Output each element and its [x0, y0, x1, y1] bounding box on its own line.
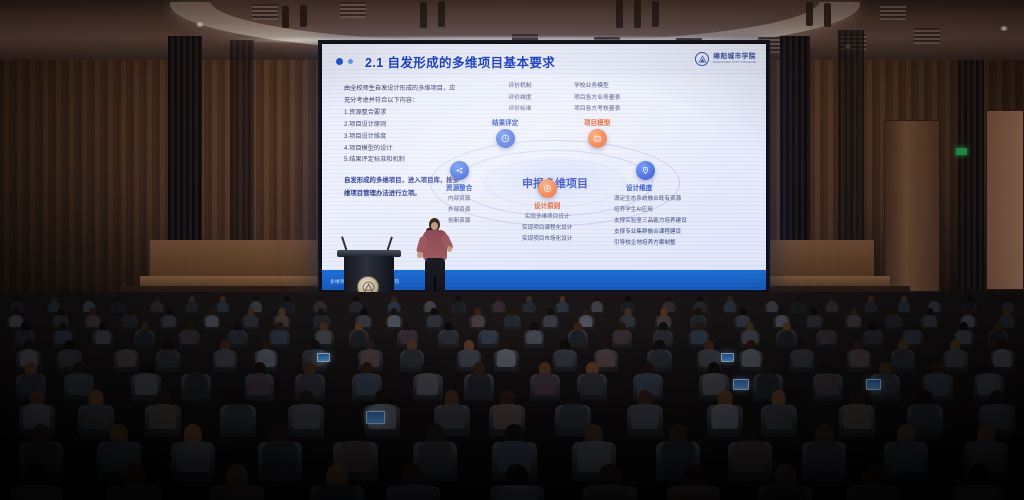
audience-member — [215, 464, 259, 500]
intro-item: 2.项目设计原则 — [344, 119, 460, 131]
audience-member — [112, 464, 156, 500]
auditorium-photo: 2.1 自发形成的多维项目基本要求 绵阳城市学院 MIANYANG CITY C… — [0, 0, 1024, 500]
audience-member — [215, 340, 235, 369]
audience-member — [505, 308, 519, 328]
node-line: 引导校企地培养方案制整 — [614, 238, 687, 249]
evaluation-item: 评价维度 — [484, 93, 556, 105]
audience-shoulders — [493, 301, 504, 311]
audience-member — [588, 464, 632, 500]
node-line: 满足生态系统融合既有资源 — [614, 194, 687, 205]
audience-shoulders — [216, 349, 235, 366]
audience-shoulders — [899, 301, 910, 311]
school-name-en: MIANYANG CITY COLLEGE — [713, 61, 756, 64]
audience-shoulders — [793, 349, 812, 366]
audience-shoulders — [526, 330, 542, 344]
acoustic-fin — [634, 0, 641, 28]
node-line: 实现项目课程化设计 — [522, 223, 572, 234]
diagram-node-resource-integration[interactable]: 资源整合 内部资源 外部资源 创新资源 — [446, 161, 472, 227]
audience-shoulders — [590, 485, 631, 500]
node-lines: 满足生态系统融合既有资源 培养学生AI应用 支撑实验室三品能力培养建设 支撑专业… — [614, 194, 687, 249]
slide-intro-text: 由全校师生自发设计形成的多维项目，应充分考虑并符合以下内容： 1.资源整合要求 … — [344, 83, 460, 166]
node-line: 外部资源 — [448, 205, 470, 216]
audience-shoulders — [793, 301, 804, 311]
model-item: 项目各方考核量表 — [574, 104, 666, 116]
audience-shoulders — [614, 330, 630, 344]
audience-shoulders — [393, 485, 434, 500]
audience-member — [205, 308, 219, 328]
presenter-hand-right — [447, 246, 452, 252]
audience-member — [480, 322, 497, 346]
diagram-node-project-model[interactable]: 项目模型 — [584, 117, 610, 148]
audience-area — [0, 292, 1024, 500]
model-item: 项目各方业务量表 — [574, 93, 666, 105]
ceiling-vent — [340, 2, 366, 18]
audience-shoulders — [843, 404, 871, 429]
audience-member — [792, 296, 804, 313]
audience-shoulders — [557, 301, 568, 311]
audience-shoulders — [506, 315, 519, 327]
audience-shoulders — [217, 485, 258, 500]
presenter-face — [431, 222, 438, 230]
audience-member — [453, 296, 465, 313]
side-door[interactable] — [986, 110, 1024, 290]
audience-member — [532, 362, 557, 397]
audience-phone-screen — [733, 379, 749, 390]
intro-item: 3.项目设计维度 — [344, 131, 460, 143]
audience-member — [724, 296, 736, 313]
diagram-node-design-dimension[interactable]: 设计维度 满足生态系统融合既有资源 培养学生AI应用 支撑实验室三品能力培养建设… — [614, 161, 687, 249]
audience-member — [158, 340, 178, 369]
ceiling-spotlight — [196, 22, 204, 27]
acoustic-fin — [282, 6, 289, 28]
model-column: 学校业务模型 项目各方业务量表 项目各方考核量表 — [574, 81, 666, 116]
audience-member — [630, 390, 660, 432]
evaluation-item: 评价标准 — [484, 104, 556, 116]
audience-phone-screen — [366, 411, 386, 424]
audience-shoulders — [467, 373, 490, 394]
node-title: 资源整合 — [446, 182, 472, 192]
audience-shoulders — [807, 441, 841, 472]
bullet-dot-small-icon — [348, 59, 353, 64]
ceiling-vent — [914, 28, 940, 44]
slide-title-row: 2.1 自发形成的多维项目基本要求 — [336, 52, 555, 71]
audience-member — [886, 308, 900, 328]
audience-shoulders — [764, 485, 805, 500]
diagram-node-result-evaluation[interactable]: 结果评定 — [492, 117, 518, 148]
audience-member — [806, 424, 842, 476]
audience-shoulders — [923, 315, 936, 327]
ceiling-vent — [880, 4, 906, 20]
audience-member — [956, 464, 1000, 500]
audience-shoulders — [416, 373, 439, 394]
node-lines: 实现多维项目设计 实现项目课程化设计 实现项目市场化设计 — [522, 212, 572, 245]
audience-member — [184, 362, 209, 397]
audience-member — [94, 322, 111, 346]
audience-member — [391, 464, 435, 500]
audience-member — [495, 464, 539, 500]
audience-member — [555, 340, 575, 369]
acoustic-fin — [824, 3, 831, 27]
audience-member — [186, 296, 198, 313]
audience-member — [14, 464, 58, 500]
node-line: 培养学生AI应用 — [614, 205, 687, 216]
node-title: 设计维度 — [626, 182, 652, 192]
audience-shoulders — [428, 315, 441, 327]
audience-shoulders — [137, 330, 153, 344]
presenter-hand-left — [417, 252, 423, 258]
audience-member — [427, 308, 441, 328]
audience-shoulders — [523, 301, 534, 311]
audience-member — [315, 464, 359, 500]
audience-shoulders — [182, 330, 198, 344]
phone-display — [867, 380, 881, 389]
audience-shoulders — [958, 485, 999, 500]
location-pin-icon — [636, 161, 655, 180]
audience-member — [148, 390, 178, 432]
wall-drape — [958, 60, 984, 290]
audience-shoulders — [733, 441, 767, 472]
clock-icon — [496, 129, 515, 148]
audience-member — [526, 322, 543, 346]
audience-shoulders — [827, 301, 838, 311]
model-item: 学校业务模型 — [574, 81, 666, 93]
audience-member — [826, 296, 838, 313]
school-logo-text: 绵阳城市学院 MIANYANG CITY COLLEGE — [713, 54, 756, 65]
audience-shoulders — [186, 301, 197, 311]
audience-shoulders — [162, 315, 175, 327]
ceiling-spotlight — [1000, 26, 1008, 31]
intro-item: 1.资源整合要求 — [344, 107, 460, 119]
slide-note-text: 自发形成的多维项目，进入项目库，按多维项目管理办法进行立项。 — [344, 175, 460, 201]
acoustic-fin — [806, 2, 813, 26]
bullet-dot-large-icon — [336, 58, 343, 65]
audience-member — [792, 340, 812, 369]
audience-shoulders — [441, 330, 457, 344]
target-icon — [538, 179, 557, 198]
audience-member — [493, 296, 505, 313]
intro-paragraph: 由全校师生自发设计形成的多维项目，应充分考虑并符合以下内容： — [344, 83, 460, 107]
audience-shoulders — [725, 301, 736, 311]
acoustic-fin — [420, 2, 427, 28]
audience-member — [842, 390, 872, 432]
audience-shoulders — [592, 301, 603, 311]
school-logo: 绵阳城市学院 MIANYANG CITY COLLEGE — [695, 52, 756, 66]
audience-member — [923, 308, 937, 328]
audience-shoulders — [159, 349, 178, 366]
audience-member — [763, 464, 807, 500]
slide-title: 2.1 自发形成的多维项目基本要求 — [365, 52, 555, 71]
audience-phone-screen — [866, 379, 882, 390]
audience-shoulders — [673, 485, 714, 500]
audience-shoulders — [176, 441, 210, 472]
node-title: 设计原则 — [534, 200, 560, 210]
audience-member — [440, 322, 457, 346]
audience-shoulders — [16, 485, 57, 500]
audience-member — [181, 322, 198, 346]
audience-member — [816, 362, 841, 397]
audience-shoulders — [631, 404, 659, 429]
ceiling-vent — [252, 4, 278, 20]
evaluation-item: 评价机制 — [484, 81, 556, 93]
audience-shoulders — [481, 330, 497, 344]
acoustic-fin — [652, 1, 659, 27]
audience-member — [671, 464, 715, 500]
node-line: 实现项目市场化设计 — [522, 234, 572, 245]
audience-member — [865, 296, 877, 313]
building-icon — [588, 129, 607, 148]
audience-shoulders — [819, 330, 835, 344]
audience-member — [847, 308, 861, 328]
audience-member — [849, 340, 869, 369]
audience-shoulders — [765, 404, 793, 429]
node-title: 结果评定 — [492, 117, 518, 127]
node-line: 内部资源 — [448, 194, 470, 205]
audience-shoulders — [263, 441, 297, 472]
audience-member — [262, 424, 298, 476]
phone-display — [722, 354, 733, 361]
audience-shoulders — [123, 315, 136, 327]
audience-shoulders — [95, 330, 111, 344]
diagram-node-design-principle[interactable]: 设计原则 实现多维项目设计 实现项目课程化设计 实现项目市场化设计 — [522, 179, 572, 245]
audience-phone-screen — [721, 353, 734, 362]
phone-display — [734, 380, 748, 389]
audience-member — [223, 390, 253, 432]
node-line: 支撑实验室三品能力培养建设 — [614, 216, 687, 227]
audience-shoulders — [205, 315, 218, 327]
audience-shoulders — [317, 485, 358, 500]
university-crest-icon — [695, 52, 709, 66]
evaluation-column: 评价机制 评价维度 评价标准 — [484, 81, 556, 116]
share-icon — [450, 161, 469, 180]
acoustic-fin — [300, 5, 307, 27]
node-line: 支撑专业集群融合课程建设 — [614, 227, 687, 238]
audience-shoulders — [887, 315, 900, 327]
audience-shoulders — [544, 315, 557, 327]
audience-member — [851, 464, 895, 500]
audience-member — [175, 424, 211, 476]
side-door[interactable] — [884, 120, 940, 292]
audience-shoulders — [185, 373, 208, 394]
audience-shoulders — [217, 301, 228, 311]
audience-shoulders — [853, 485, 894, 500]
acoustic-fin — [438, 1, 445, 27]
audience-member — [496, 340, 516, 369]
audience-member — [523, 296, 535, 313]
audience-shoulders — [224, 404, 252, 429]
audience-shoulders — [555, 349, 574, 366]
audience-member — [543, 308, 557, 328]
audience-shoulders — [865, 301, 876, 311]
audience-member — [557, 296, 569, 313]
audience-phone-screen — [317, 353, 330, 362]
audience-shoulders — [453, 301, 464, 311]
audience-shoulders — [533, 373, 556, 394]
audience-shoulders — [816, 373, 839, 394]
intro-item: 4.项目模型的设计 — [344, 143, 460, 155]
audience-shoulders — [496, 485, 537, 500]
audience-member — [136, 322, 153, 346]
audience-member — [162, 308, 176, 328]
exit-sign-icon — [956, 148, 967, 155]
audience-shoulders — [497, 349, 516, 366]
acoustic-fin — [616, 0, 623, 28]
intro-item: 5.结果评定标准和机制 — [344, 154, 460, 166]
audience-member — [467, 362, 492, 397]
phone-display — [367, 412, 385, 423]
audience-member — [122, 308, 136, 328]
audience-shoulders — [850, 349, 869, 366]
phone-display — [318, 354, 329, 361]
node-line: 实现多维项目设计 — [522, 212, 572, 223]
audience-shoulders — [149, 404, 177, 429]
audience-shoulders — [113, 485, 154, 500]
audience-member — [818, 322, 835, 346]
audience-shoulders — [847, 315, 860, 327]
node-title: 项目模型 — [584, 117, 610, 127]
